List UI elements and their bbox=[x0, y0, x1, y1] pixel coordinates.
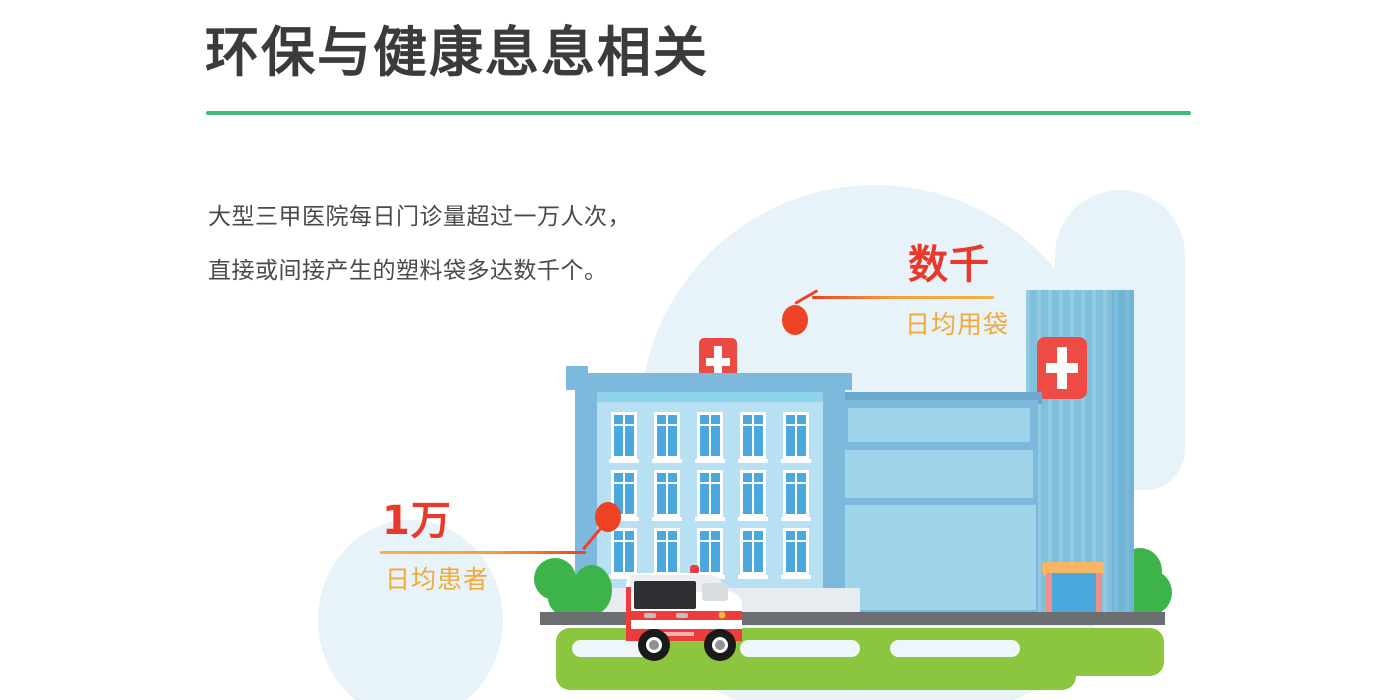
callout-label-daily-patients: 日均患者 bbox=[385, 560, 489, 596]
main-building-roof bbox=[566, 373, 852, 390]
main-building-facade-band bbox=[597, 392, 823, 402]
callout-dot-daily-bags bbox=[782, 305, 808, 335]
body-paragraph: 大型三甲医院每日门诊量超过一万人次，直接或间接产生的塑料袋多达数千个。 bbox=[208, 190, 638, 298]
path-marking bbox=[890, 640, 1020, 657]
callout-dot-daily-patients bbox=[595, 502, 621, 532]
background-blob-left bbox=[318, 520, 503, 700]
callout-value-daily-bags: 数千 bbox=[908, 232, 990, 290]
awning-post bbox=[1096, 573, 1102, 615]
midrise-glass-band bbox=[848, 408, 1030, 442]
page-title: 环保与健康息息相关 bbox=[205, 22, 709, 84]
infographic-slide: 环保与健康息息相关 大型三甲医院每日门诊量超过一万人次，直接或间接产生的塑料袋多… bbox=[0, 0, 1400, 700]
hospital-tower-shadow bbox=[1112, 290, 1134, 615]
midrise-glass-band bbox=[840, 505, 1036, 610]
callout-line-daily-patients bbox=[380, 551, 586, 554]
title-underline-rule bbox=[206, 111, 1191, 115]
tower-red-cross-icon bbox=[1037, 337, 1087, 399]
callout-label-daily-bags: 日均用袋 bbox=[905, 305, 1009, 341]
bush-icon bbox=[572, 565, 612, 615]
entrance-glass-door bbox=[1052, 573, 1096, 615]
ambulance-illustration bbox=[618, 565, 778, 680]
midrise-glass-band bbox=[843, 450, 1033, 498]
callout-line-daily-bags bbox=[812, 296, 994, 299]
callout-value-daily-patients: 1万 bbox=[382, 488, 452, 546]
